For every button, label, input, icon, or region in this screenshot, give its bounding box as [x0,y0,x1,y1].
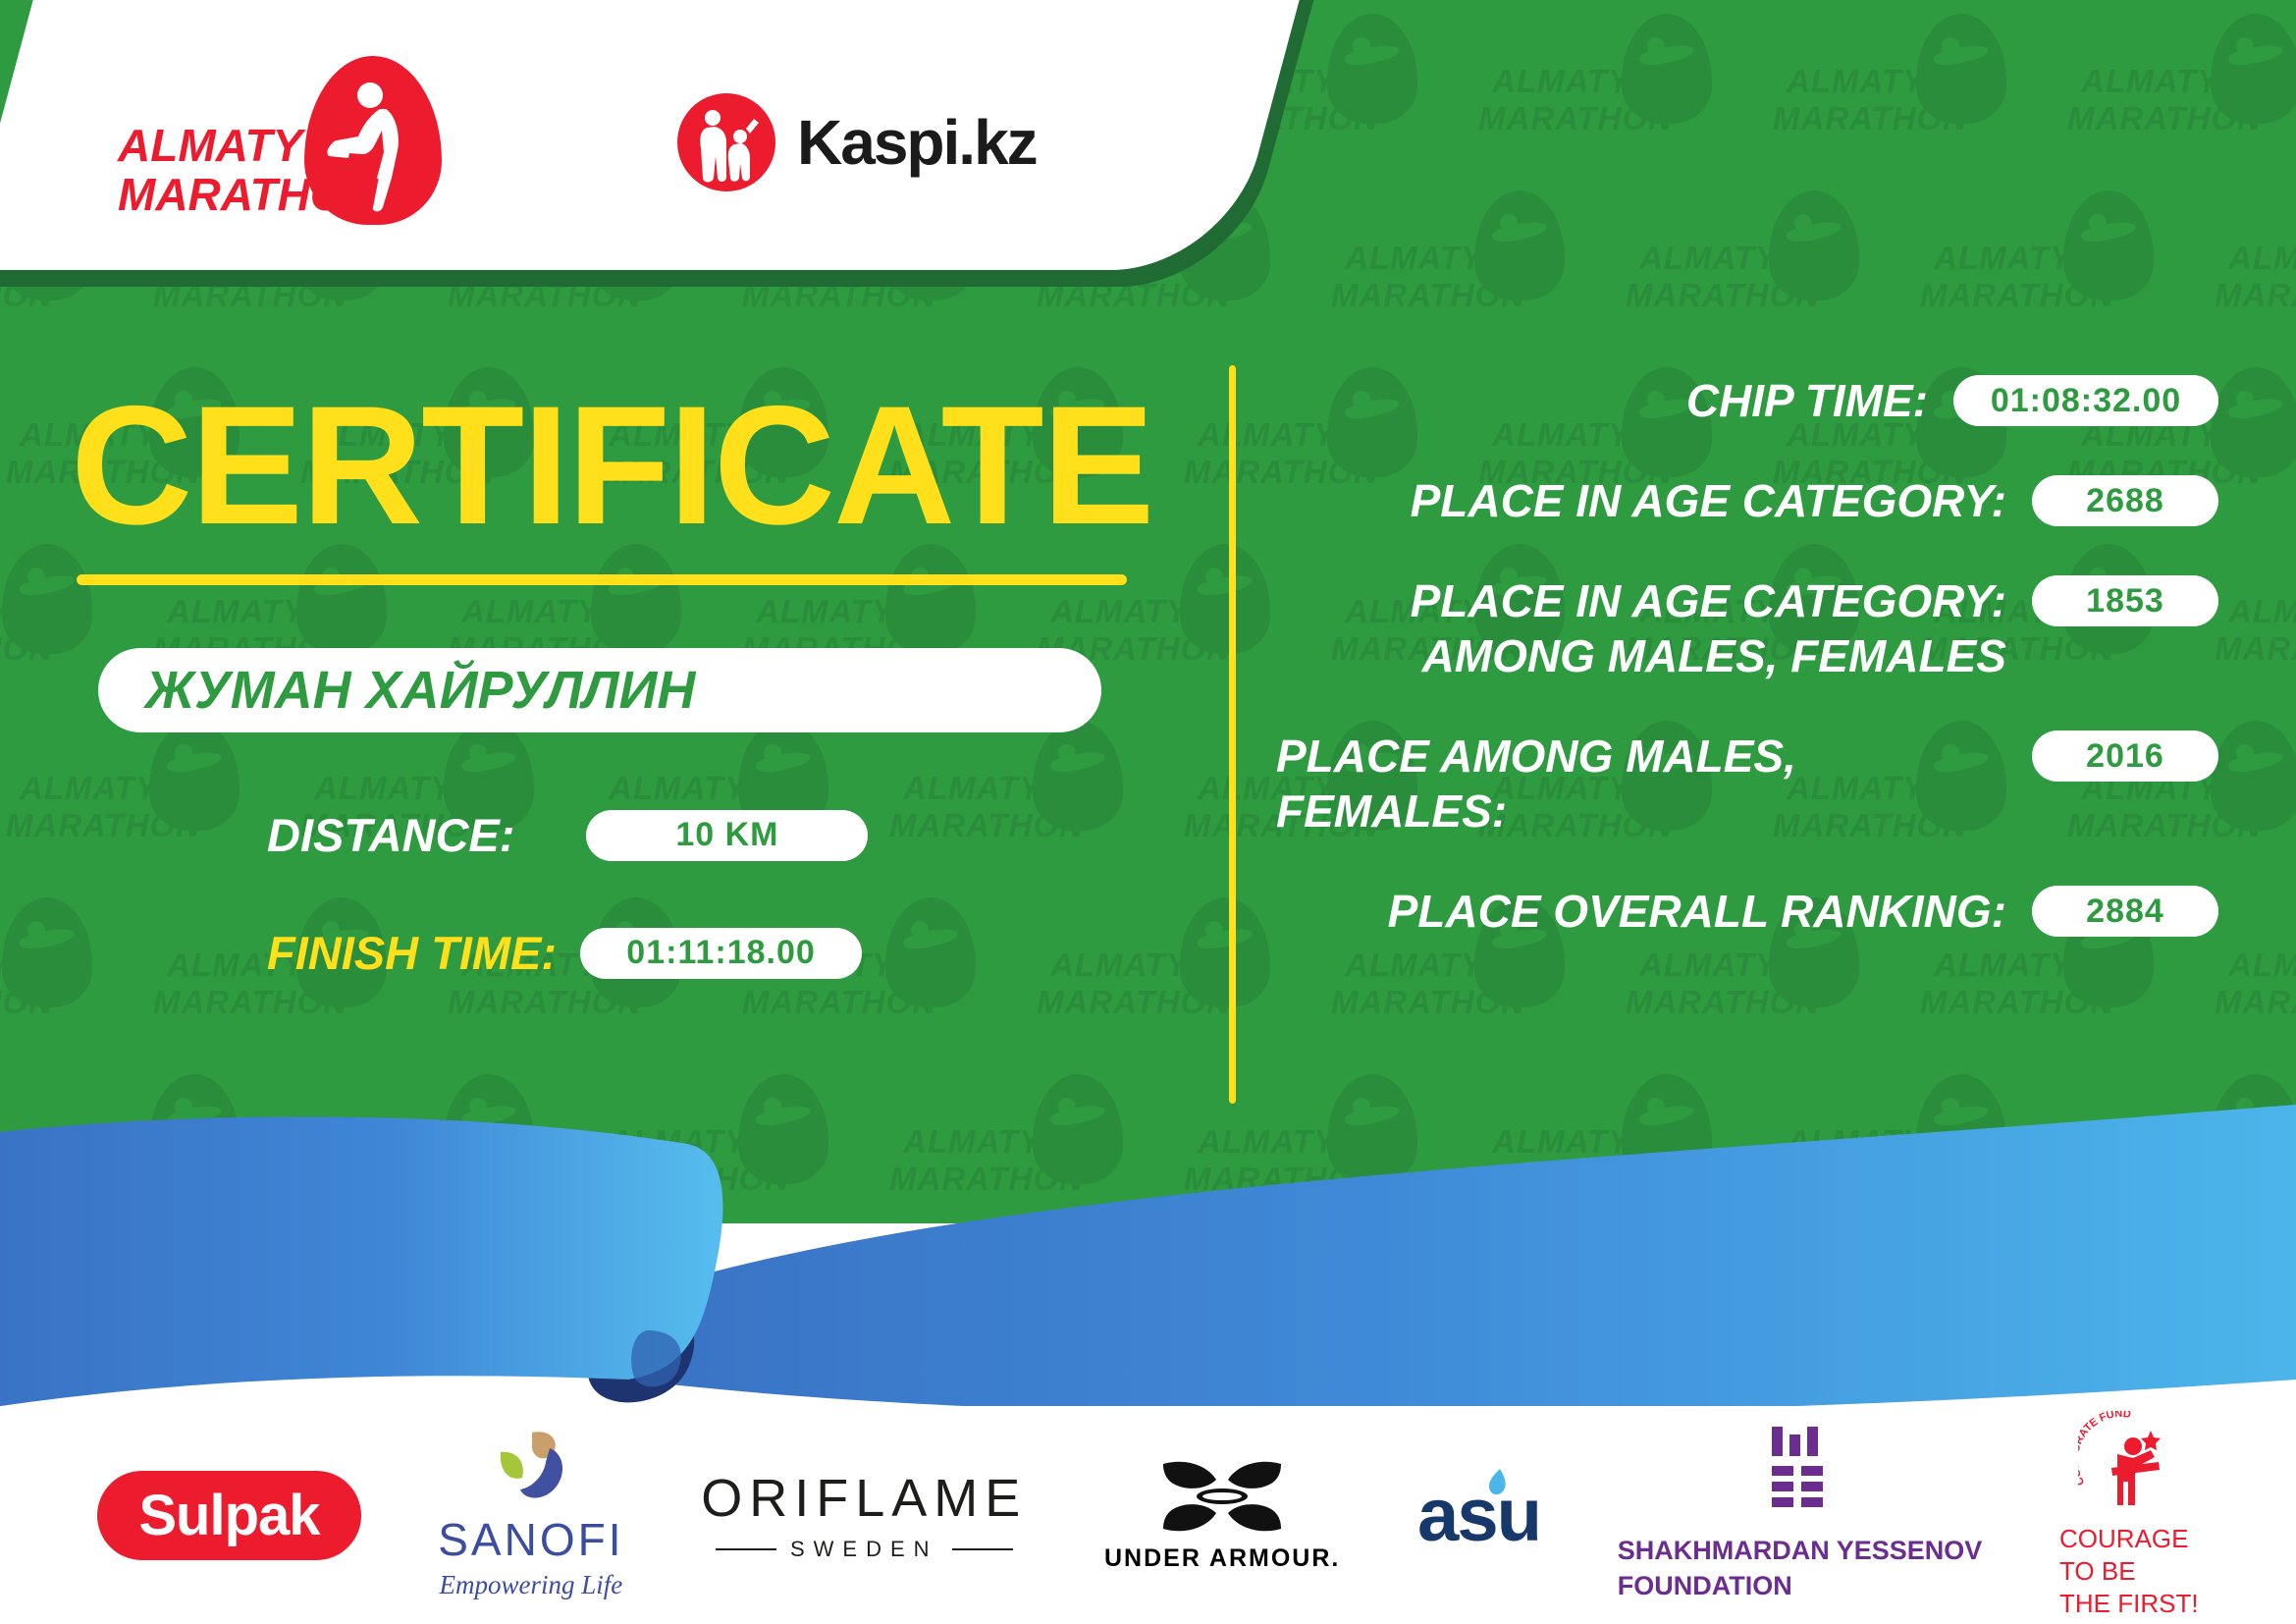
watermark-line-1: ALMATY [1050,947,1189,984]
watermark-line-2: MARATHON [1920,277,2114,314]
certificate-page: ALMATYMARATHONALMATYMARATHONALMATYMARATH… [0,0,2296,1624]
watermark-drop-icon [2,544,92,654]
watermark-drop-icon [1327,14,1417,124]
place-age-category-gender-value: 1853 [2032,575,2218,626]
sponsor-oriflame: ORIFLAME SWEDEN [701,1468,1027,1562]
watermark-drop-icon [2211,14,2296,124]
divider-line-left [716,1548,776,1550]
watermark-tile: ALMATYMARATHON [1767,6,2061,183]
yessenov-line-1: SHAKHMARDAN YESSENOV [1618,1533,1983,1568]
sponsor-sulpak: Sulpak [97,1471,360,1560]
watermark-tile: ALMATYMARATHON [2061,6,2296,183]
watermark-drop-icon [885,544,976,654]
watermark-drop-icon [1916,14,2006,124]
kaspi-logo: Kaspi.kz [677,93,1037,191]
watermark-drop-icon [296,544,387,654]
yessenov-line-2: FOUNDATION [1618,1568,1983,1603]
yessenov-foundation-icon [1770,1427,1831,1507]
corporate-fund-wordmark: COURAGE TO BE THE FIRST! [2059,1523,2199,1620]
watermark-line-2: MARATHON [1626,984,1820,1021]
watermark-tile: ALMATYMARATHON [0,890,147,1066]
distance-label: DISTANCE: [267,808,514,862]
watermark-drop-icon [885,897,976,1007]
watermark-line-1: ALMATY [1934,240,2072,277]
finish-time-row: FINISH TIME: 01:11:18.00 [267,926,862,980]
watermark-line-2: MARATHON [153,984,347,1021]
header-content: ALMATY MARATHON Kaspi.kz [0,0,1276,275]
watermark-line-2: MARATHON [1478,100,1673,137]
watermark-line-2: MARATHON [1920,984,2114,1021]
finish-time-label: FINISH TIME: [267,926,557,980]
watermark-tile: ALMATYMARATHON [2209,183,2296,359]
watermark-line-2: MARATHON [448,984,642,1021]
watermark-line-2: MARATHON [1331,277,1525,314]
watermark-line-1: ALMATY [903,770,1041,807]
watermark-line-1: ALMATY [1639,240,1778,277]
almaty-marathon-wordmark: ALMATY MARATHON [118,121,378,219]
participant-name-value: ЖУМАН ХАЙРУЛЛИН [145,660,695,721]
stats-list: CHIP TIME: 01:08:32.00 PLACE IN AGE CATE… [1276,373,2218,984]
watermark-drop-icon [2211,367,2296,477]
watermark-tile: ALMATYMARATHON [1620,183,1914,359]
divider-line-right [952,1548,1013,1550]
chip-time-value: 01:08:32.00 [1953,375,2218,426]
watermark-line-1: ALMATY [20,770,158,807]
almaty-marathon-logo: ALMATY MARATHON [118,54,442,216]
watermark-line-1: ALMATY [2228,240,2296,277]
place-age-category-value: 2688 [2032,475,2218,526]
watermark-line-1: ALMATY [2081,63,2219,100]
watermark-tile: ALMATYMARATHON [1325,183,1620,359]
logo-line-2: MARATHON [118,170,378,219]
watermark-line-2: MARATHON [1037,984,1231,1021]
cf-line-1: COURAGE [2059,1523,2199,1555]
finish-time-value: 01:11:18.00 [580,928,862,979]
watermark-line-2: MARATHON [2067,100,2262,137]
watermark-line-1: ALMATY [609,770,747,807]
cf-line-3: THE FIRST! [2059,1588,2199,1620]
chip-time-label: CHIP TIME: [1276,373,1928,428]
watermark-drop-icon [1180,544,1270,654]
watermark-line-2: MARATHON [742,984,936,1021]
sponsor-sanofi: SANOFI Empowering Life [438,1431,623,1600]
watermark-line-2: MARATHON [2215,277,2296,314]
watermark-line-2: MARATHON [2215,630,2296,668]
stat-row: PLACE IN AGE CATEGORY: 2688 [1276,473,2218,528]
watermark-tile: ALMATYMARATHON [589,713,883,890]
stat-row: PLACE AMONG MALES, FEMALES: 2016 [1276,729,2218,839]
watermark-line-2: MARATHON [1773,100,1967,137]
distance-value: 10 KM [586,810,868,861]
place-among-gender-value: 2016 [2032,731,2218,782]
sulpak-logo: Sulpak [97,1471,360,1560]
sponsor-corporate-fund: CORPORATE FUND COURAGE TO BE THE FIRST! [2059,1411,2199,1620]
watermark-drop-icon [1033,721,1123,831]
place-among-gender-label: PLACE AMONG MALES, FEMALES: [1276,729,2006,839]
watermark-tile: ALMATYMARATHON [1914,183,2209,359]
place-overall-label: PLACE OVERALL RANKING: [1276,884,2006,939]
vertical-divider [1229,365,1236,1104]
watermark-tile: ALMATYMARATHON [2209,536,2296,713]
sponsor-shakhmardan-yessenov: SHAKHMARDAN YESSENOV FOUNDATION [1618,1427,1983,1603]
oriflame-country: SWEDEN [790,1537,938,1562]
kaspi-people-icon [677,93,775,191]
under-armour-icon [1161,1458,1283,1535]
watermark-drop-icon [591,544,681,654]
sanofi-mark-icon [489,1431,573,1507]
watermark-tile: ALMATYMARATHON [2209,890,2296,1066]
watermark-tile: ALMATYMARATHON [294,713,589,890]
sponsor-under-armour: UNDER ARMOUR. [1104,1458,1340,1573]
watermark-drop-icon [2211,721,2296,831]
watermark-line-1: ALMATY [756,593,894,630]
watermark-line-2: MARATHON [2215,984,2296,1021]
watermark-line-1: ALMATY [0,947,11,984]
sponsor-bar: Sulpak SANOFI Empowering Life ORIFLAME S… [0,1406,2296,1624]
participant-name-field: ЖУМАН ХАЙРУЛЛИН [98,648,1101,732]
watermark-line-2: MARATHON [1626,277,1820,314]
place-overall-value: 2884 [2032,886,2218,937]
watermark-line-2: MARATHON [889,807,1084,844]
watermark-drop-icon [2063,190,2154,300]
watermark-drop-icon [1622,14,1712,124]
asu-wordmark: asu [1417,1473,1540,1558]
corporate-fund-icon: CORPORATE FUND [2078,1411,2180,1509]
watermark-line-1: ALMATY [2228,593,2296,630]
asu-droplet-icon [1482,1467,1516,1500]
oriflame-sub: SWEDEN [716,1537,1013,1562]
watermark-line-1: ALMATY [314,770,453,807]
watermark-line-1: ALMATY [1050,593,1189,630]
watermark-line-1: ALMATY [0,593,11,630]
stat-row: PLACE IN AGE CATEGORY: AMONG MALES, FEMA… [1276,573,2218,683]
ribbon-shape [0,1085,2296,1438]
cf-line-2: TO BE [2059,1555,2199,1588]
distance-row: DISTANCE: 10 KM [267,808,868,862]
sanofi-tagline: Empowering Life [440,1570,623,1600]
watermark-tile: ALMATYMARATHON [1472,6,1767,183]
watermark-line-1: ALMATY [461,593,600,630]
watermark-drop-icon [1474,190,1565,300]
watermark-line-1: ALMATY [167,593,305,630]
under-armour-wordmark: UNDER ARMOUR. [1104,1544,1340,1573]
watermark-line-1: ALMATY [1492,63,1630,100]
watermark-line-2: MARATHON [0,984,53,1021]
watermark-tile: ALMATYMARATHON [883,713,1178,890]
place-age-category-label: PLACE IN AGE CATEGORY: [1276,473,2006,528]
watermark-drop-icon [2,897,92,1007]
watermark-drop-icon [1769,190,1859,300]
watermark-tile: ALMATYMARATHON [0,713,294,890]
kaspi-wordmark: Kaspi.kz [797,106,1037,179]
watermark-line-2: MARATHON [6,807,200,844]
sponsor-asu: asu [1417,1473,1540,1558]
stat-row: PLACE OVERALL RANKING: 2884 [1276,884,2218,939]
title-underline [77,574,1127,585]
watermark-drop-icon [1180,897,1270,1007]
watermark-line-1: ALMATY [1345,240,1483,277]
oriflame-wordmark: ORIFLAME [701,1468,1027,1529]
watermark-line-1: ALMATY [1787,63,1925,100]
yessenov-foundation-wordmark: SHAKHMARDAN YESSENOV FOUNDATION [1618,1533,1983,1603]
place-age-category-gender-label: PLACE IN AGE CATEGORY: AMONG MALES, FEMA… [1276,573,2006,683]
logo-line-1: ALMATY [118,121,378,170]
watermark-line-2: MARATHON [0,630,53,668]
event-ribbon: APRIL 21 st RUN FOR SENSATIONS [0,1085,2296,1438]
watermark-line-1: ALMATY [2228,947,2296,984]
watermark-line-2: MARATHON [1331,984,1525,1021]
stat-row: CHIP TIME: 01:08:32.00 [1276,373,2218,428]
sanofi-wordmark: SANOFI [438,1513,623,1566]
asu-text: asu [1417,1474,1540,1557]
page-title: CERTIFICATE [71,381,1152,550]
watermark-drop-icon [149,721,240,831]
